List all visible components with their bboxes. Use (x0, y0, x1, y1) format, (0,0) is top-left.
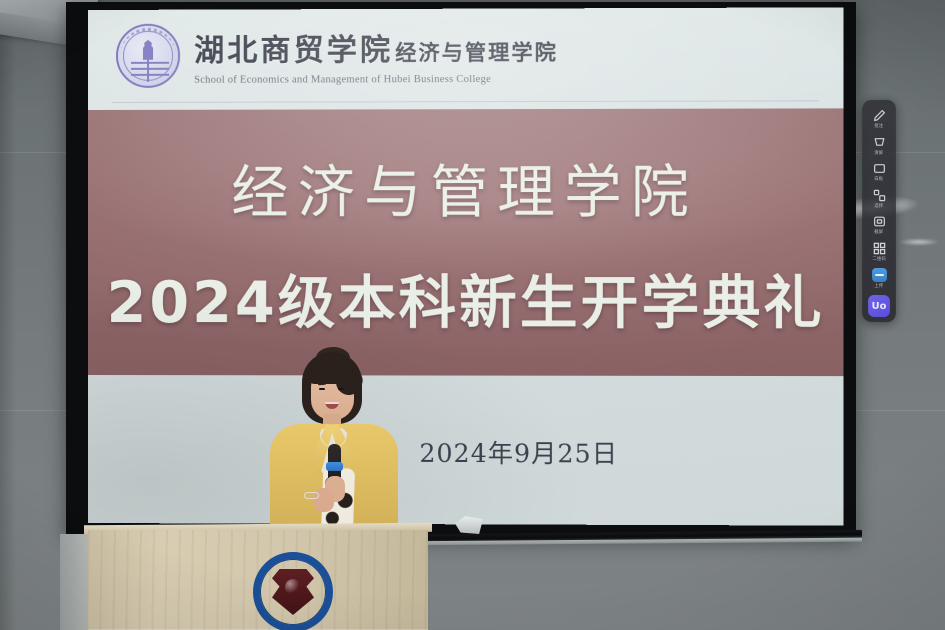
toolbar-item-capture[interactable]: 截屏 (864, 212, 894, 237)
institution-main-name: 湖北商贸学院 (194, 25, 393, 70)
institution-sub-name: 经济与管理学院 (395, 37, 558, 68)
qrcode-icon (872, 241, 887, 256)
college-seal-icon (253, 552, 333, 630)
toolbar-label: 批注 (874, 124, 883, 128)
eraser-icon (872, 135, 887, 150)
toolbar-label: 上传 (874, 284, 883, 288)
toolbar-item-eraser[interactable]: 清屏 (864, 132, 894, 157)
toolbar-label: 选择 (874, 204, 883, 208)
institution-name-block: 湖北商贸学院 经济与管理学院 School of Economics and M… (194, 24, 558, 85)
slide-title-band: 经济与管理学院 2024级本科新生开学典礼 (88, 108, 844, 376)
slide-header: 湖北商贸学院 经济与管理学院 School of Economics and M… (88, 7, 844, 102)
toolbar-item-qrcode[interactable]: 二维码 (864, 239, 894, 264)
presentation-slide[interactable]: 湖北商贸学院 经济与管理学院 School of Economics and M… (88, 7, 844, 525)
toolbar-label: 清屏 (874, 151, 883, 155)
pen-icon (872, 108, 887, 123)
institution-english-name: School of Economics and Management of Hu… (194, 74, 558, 86)
presenter (268, 352, 400, 538)
toolbar-item-pen[interactable]: 批注 (864, 106, 894, 131)
college-crest-icon (116, 24, 180, 88)
slide-title-line-2: 2024级本科新生开学典礼 (107, 256, 825, 339)
toolbar-item-upload[interactable]: 上传 (864, 265, 894, 290)
whiteboard-icon (872, 161, 887, 176)
slide-title-line-1: 经济与管理学院 (231, 145, 698, 228)
capture-icon (872, 214, 887, 229)
header-divider (112, 100, 819, 103)
toolbar-label: 白板 (874, 177, 883, 181)
annotation-toolbar[interactable]: 批注 清屏 白板 (862, 100, 896, 323)
toolbar-item-select[interactable]: 选择 (864, 186, 894, 211)
slide-date: 2024年9月25日 (419, 434, 618, 471)
app-icon[interactable]: Uo (868, 295, 890, 317)
toolbar-label: 截屏 (874, 230, 883, 234)
toolbar-label: 二维码 (872, 257, 886, 261)
upload-icon (872, 268, 887, 283)
select-icon (872, 188, 887, 203)
toolbar-item-whiteboard[interactable]: 白板 (864, 159, 894, 184)
wall-light-reflection-icon (898, 238, 940, 246)
wall-corner-shadow (0, 0, 16, 630)
lecture-hall-scene: 湖北商贸学院 经济与管理学院 School of Economics and M… (0, 0, 945, 630)
projector-screen-frame: 湖北商贸学院 经济与管理学院 School of Economics and M… (66, 2, 856, 535)
